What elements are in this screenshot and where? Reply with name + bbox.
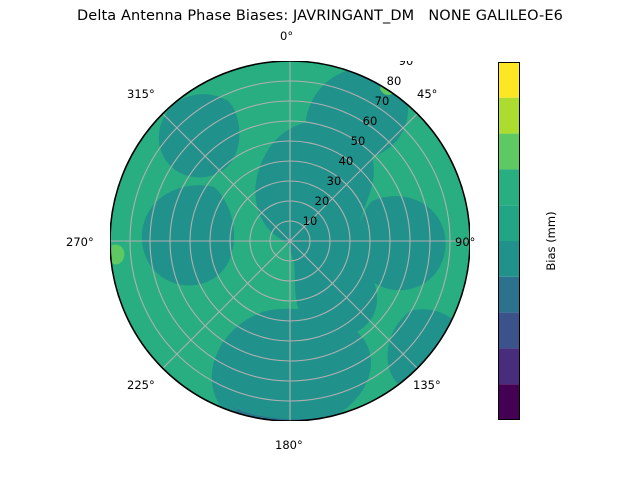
cb-band-4-to-5 bbox=[498, 62, 520, 98]
colorbar-gradient bbox=[498, 62, 520, 420]
page-title: Delta Antenna Phase Biases: JAVRINGANT_D… bbox=[0, 8, 640, 24]
colorbar[interactable]: 4 2 0 −2 −4 bbox=[498, 62, 520, 420]
r-tick-40: 40 bbox=[339, 154, 354, 168]
theta-tick-0: 0° bbox=[280, 29, 293, 43]
colorbar-bands bbox=[498, 62, 520, 420]
r-tick-30: 30 bbox=[327, 174, 342, 188]
theta-tick-180: 180° bbox=[275, 438, 303, 452]
r-tick-20: 20 bbox=[315, 194, 330, 208]
cb-band-3-to-4 bbox=[498, 98, 520, 134]
polar-axes[interactable]: 10 20 30 40 50 60 70 80 90 0° 45° 90° 13… bbox=[110, 61, 470, 421]
theta-tick-90: 90° bbox=[455, 235, 475, 249]
theta-tick-225: 225° bbox=[127, 378, 155, 392]
r-tick-70: 70 bbox=[375, 94, 390, 108]
cb-band-2-to-3 bbox=[498, 134, 520, 170]
figure-canvas: Delta Antenna Phase Biases: JAVRINGANT_D… bbox=[0, 0, 640, 480]
cb-band-1-to-2 bbox=[498, 169, 520, 205]
r-tick-50: 50 bbox=[351, 134, 366, 148]
theta-tick-315: 315° bbox=[127, 87, 155, 101]
polar-grid-spokes bbox=[110, 61, 470, 421]
cb-band-minus3-to-minus2 bbox=[498, 313, 520, 349]
cb-band-minus1-to-0 bbox=[498, 241, 520, 277]
theta-tick-135: 135° bbox=[413, 378, 441, 392]
theta-tick-45: 45° bbox=[417, 87, 437, 101]
r-tick-80: 80 bbox=[387, 74, 402, 88]
theta-tick-270: 270° bbox=[66, 235, 94, 249]
cb-band-minus4-to-minus3 bbox=[498, 348, 520, 384]
r-tick-90: 90 bbox=[399, 61, 414, 68]
cb-band-minus5-to-minus4 bbox=[498, 384, 520, 420]
cb-band-minus2-to-minus1 bbox=[498, 277, 520, 313]
cb-band-0-to-1 bbox=[498, 205, 520, 241]
r-tick-60: 60 bbox=[363, 114, 378, 128]
r-tick-10: 10 bbox=[303, 214, 318, 228]
polar-contour-plot: 10 20 30 40 50 60 70 80 90 bbox=[110, 61, 470, 421]
colorbar-axis-label: Bias (mm) bbox=[544, 211, 558, 270]
